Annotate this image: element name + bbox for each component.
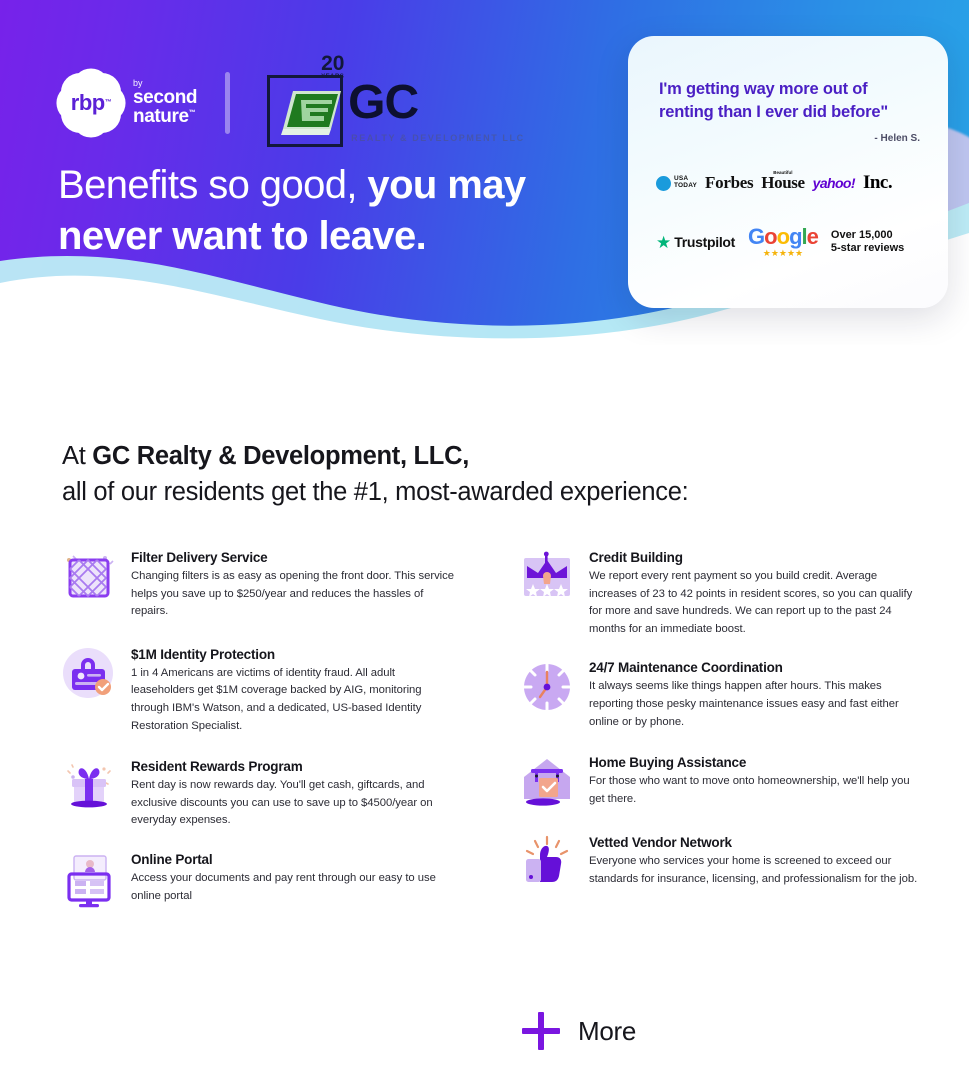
headline-part1: Benefits so good, [58,163,367,207]
thumbs-up-icon [518,833,576,891]
identity-shield-icon [60,645,118,703]
google-e: e [807,224,818,249]
house-text: House [761,173,804,192]
filter-icon [60,548,118,606]
second-word: second [133,88,197,107]
benefit-item-resident-rewards: Resident Rewards Program Rent day is now… [60,757,460,830]
benefit-body: $1M Identity Protection 1 in 4 Americans… [131,645,460,735]
benefit-item-credit-building: Credit Building We report every rent pay… [518,548,918,638]
press-logo-row: USA TODAY Forbes Beautiful House yahoo! … [656,172,926,194]
trustpilot-star-icon: ★ [656,234,671,251]
second-nature-tm: ™ [189,110,196,117]
benefit-item-home-buying-assistance: Home Buying Assistance For those who wan… [518,753,918,811]
gc-badge-number: 20 [321,52,344,75]
google-g1: G [748,224,764,249]
house-beautiful-logo: Beautiful House [761,173,804,193]
logo-divider [225,72,230,134]
benefit-body: Filter Delivery Service Changing filters… [131,548,460,621]
usa-today-text: USA TODAY [674,176,697,189]
benefit-body: Home Buying Assistance For those who wan… [589,753,918,811]
nature-word: nature™ [133,107,197,126]
benefit-title: Vetted Vendor Network [589,835,918,850]
benefit-title: 24/7 Maintenance Coordination [589,660,918,675]
credit-crown-icon [518,548,576,606]
benefit-body: Vetted Vendor Network Everyone who servi… [589,833,918,891]
by-label: by [133,79,197,88]
benefits-column-right: Credit Building We report every rent pay… [518,548,918,907]
benefit-description: We report every rent payment so you buil… [589,568,918,638]
benefit-body: Online Portal Access your documents and … [131,850,460,908]
page-root: rbp™ by second nature™ 20 [0,0,969,1080]
benefit-body: Resident Rewards Program Rent day is now… [131,757,460,830]
gc-anniversary-badge: 20 YEARS [321,53,344,80]
benefit-item-online-portal: Online Portal Access your documents and … [60,850,460,908]
benefit-description: Access your documents and pay rent throu… [131,870,460,905]
reviews-line1: Over 15,000 [831,229,904,242]
benefit-body: Credit Building We report every rent pay… [589,548,918,638]
forbes-logo: Forbes [705,173,753,193]
usa-today-line2: TODAY [674,183,697,190]
inc-logo: Inc. [863,172,892,194]
clock-icon [518,658,576,716]
house-check-icon [518,753,576,811]
gc-letters: GC [348,79,418,127]
trustpilot-text: Trustpilot [674,234,735,250]
hero-banner: rbp™ by second nature™ 20 [0,0,969,345]
benefit-description: For those who want to move onto homeowne… [589,773,918,808]
testimonial-quote: I'm getting way more out of renting than… [659,78,921,124]
google-stars-icon: ★★★★★ [763,249,803,258]
more-label: More [578,1016,636,1047]
benefit-item-identity-protection: $1M Identity Protection 1 in 4 Americans… [60,645,460,735]
rbp-tm: ™ [105,99,112,106]
usa-today-logo: USA TODAY [656,176,697,191]
benefit-body: 24/7 Maintenance Coordination It always … [589,658,918,731]
headline-line2: never want to leave. [58,214,426,258]
google-g2: g [789,224,801,249]
hero-headline: Benefits so good, you may never want to … [58,160,618,262]
benefit-description: 1 in 4 Americans are victims of identity… [131,665,460,735]
benefits-column-left: Filter Delivery Service Changing filters… [60,548,460,924]
trustpilot-logo: ★ Trustpilot [656,234,735,251]
testimonial-card: I'm getting way more out of renting than… [628,36,948,308]
headline-bold: you may [367,163,525,207]
rbp-second-nature-logo[interactable]: rbp™ by second nature™ [58,70,197,136]
testimonial-attribution: - Helen S. [874,133,920,144]
usa-today-dot-icon [656,176,671,191]
benefit-description: It always seems like things happen after… [589,678,918,731]
more-button[interactable]: More [520,1010,636,1052]
yahoo-logo: yahoo! [813,175,855,191]
second-nature-wordmark: by second nature™ [133,79,197,127]
monitor-icon [60,850,118,908]
section-heading: At GC Realty & Development, LLC, all of … [62,438,862,510]
benefit-title: Credit Building [589,550,918,565]
gc-subtext: REALTY & DEVELOPMENT LLC [351,133,525,143]
benefit-description: Everyone who services your home is scree… [589,853,918,888]
benefit-title: Resident Rewards Program [131,759,460,774]
rbp-mark-icon: rbp™ [58,70,124,136]
gift-icon [60,757,118,815]
google-o1: o [764,224,776,249]
benefit-item-vetted-vendor-network: Vetted Vendor Network Everyone who servi… [518,833,918,891]
plus-icon [520,1010,562,1052]
reviews-line2: 5-star reviews [831,242,904,255]
benefit-item-filter-delivery-service: Filter Delivery Service Changing filters… [60,548,460,621]
benefit-title: $1M Identity Protection [131,647,460,662]
rbp-wordmark: rbp™ [58,70,124,136]
google-rating: Google ★★★★★ [748,226,818,258]
ratings-row: ★ Trustpilot Google ★★★★★ Over 15,000 5-… [656,226,928,258]
benefit-description: Rent day is now rewards day. You'll get … [131,777,460,830]
section-heading-at: At [62,442,92,470]
rbp-wordmark-text: rbp [71,90,105,116]
section-heading-company: GC Realty & Development, LLC, [92,442,469,470]
house-tiny-text: Beautiful [773,170,792,175]
benefit-description: Changing filters is as easy as opening t… [131,568,460,621]
benefit-title: Home Buying Assistance [589,755,918,770]
reviews-count: Over 15,000 5-star reviews [831,229,904,256]
gc-book-icon [277,83,347,143]
benefit-title: Filter Delivery Service [131,550,460,565]
nature-text: nature [133,106,189,127]
section-heading-line2: all of our residents get the #1, most-aw… [62,478,688,506]
google-logo: Google [748,226,818,248]
logo-row: rbp™ by second nature™ 20 [58,55,513,150]
gc-badge-years: YEARS [321,74,344,80]
benefit-item-maintenance-coordination: 24/7 Maintenance Coordination It always … [518,658,918,731]
benefit-title: Online Portal [131,852,460,867]
gc-realty-logo[interactable]: 20 YEARS GC REALTY & DEVELOPMENT LLC [263,55,513,150]
google-o2: o [777,224,789,249]
